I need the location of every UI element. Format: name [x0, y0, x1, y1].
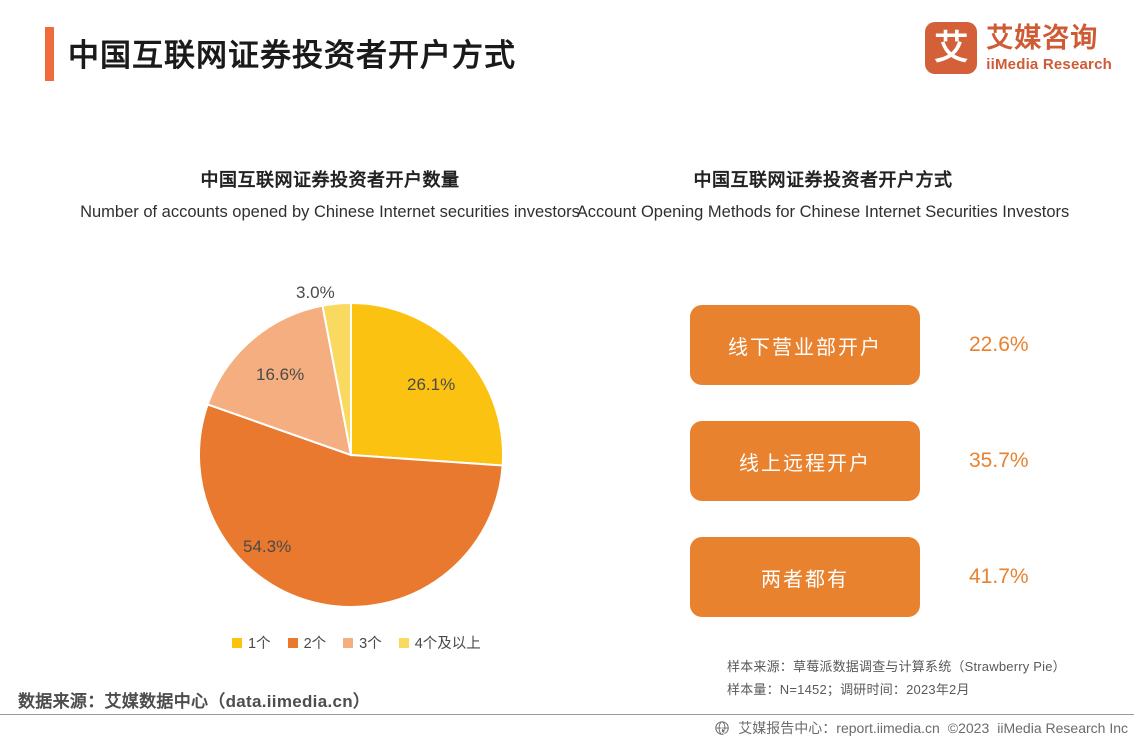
legend-item-label: 1个 [248, 632, 271, 653]
brand-logo: 艾 艾媒咨询 iiMedia Research [925, 22, 1112, 74]
legend-item[interactable]: 1个 [232, 632, 271, 653]
right-panel-title-en: Account Opening Methods for Chinese Inte… [543, 199, 1103, 226]
copyright-label: ©2023 [948, 720, 989, 736]
legend-swatch-icon [399, 638, 409, 648]
legend-swatch-icon [343, 638, 353, 648]
legend-item[interactable]: 4个及以上 [399, 632, 481, 653]
logo-text: 艾媒咨询 iiMedia Research [986, 25, 1112, 72]
legend-swatch-icon [232, 638, 242, 648]
logo-name-cn: 艾媒咨询 [986, 25, 1112, 52]
legend-item[interactable]: 2个 [288, 632, 327, 653]
method-bar-row: 线上远程开户 35.7% [690, 421, 1065, 501]
sample-source-line: 样本来源：草莓派数据调查与计算系统（Strawberry Pie） [727, 656, 1066, 679]
footer-divider [0, 714, 1134, 715]
page-title: 中国互联网证券投资者开户方式 [68, 30, 516, 75]
method-bar-list: 线下营业部开户 22.6% 线上远程开户 35.7% 两者都有 41.7% [690, 305, 1065, 653]
footer-right: 艾媒报告中心：report.iimedia.cn ©2023 iiMedia R… [715, 718, 1128, 738]
data-source-line: 数据来源：艾媒数据中心（data.iimedia.cn） [18, 687, 370, 712]
pie-chart: 26.1% 54.3% 16.6% 3.0% [196, 300, 506, 610]
method-bar-row: 两者都有 41.7% [690, 537, 1065, 617]
pie-chart-svg [196, 300, 506, 610]
method-bar-card[interactable]: 线上远程开户 [690, 421, 920, 501]
legend-item-label: 4个及以上 [415, 632, 481, 653]
page-header: 中国互联网证券投资者开户方式 艾 艾媒咨询 iiMedia Research [0, 0, 1134, 108]
method-bar-card[interactable]: 线下营业部开户 [690, 305, 920, 385]
left-panel-title-en: Number of accounts opened by Chinese Int… [50, 199, 610, 226]
legend-swatch-icon [288, 638, 298, 648]
sample-notes: 样本来源：草莓派数据调查与计算系统（Strawberry Pie） 样本量：N=… [727, 656, 1066, 702]
report-center-label[interactable]: 艾媒报告中心：report.iimedia.cn [738, 718, 940, 738]
left-panel-title-cn: 中国互联网证券投资者开户数量 [50, 168, 610, 192]
pie-chart-legend: 1个 2个 3个 4个及以上 [232, 632, 481, 653]
logo-mark-icon: 艾 [925, 22, 977, 74]
method-bar-value: 41.7% [969, 565, 1029, 589]
legend-item-label: 2个 [304, 632, 327, 653]
right-panel-heading: 中国互联网证券投资者开户方式 Account Opening Methods f… [543, 168, 1103, 226]
sample-size-line: 样本量：N=1452；调研时间：2023年2月 [727, 679, 1066, 702]
right-panel-title-cn: 中国互联网证券投资者开户方式 [543, 168, 1103, 192]
pie-slice-label: 26.1% [407, 375, 455, 395]
method-bar-value: 35.7% [969, 449, 1029, 473]
title-accent-bar [45, 27, 54, 81]
legend-item-label: 3个 [359, 632, 382, 653]
method-bar-value: 22.6% [969, 333, 1029, 357]
pie-slice-label: 54.3% [243, 537, 291, 557]
globe-icon [715, 721, 730, 736]
pie-slice-label: 3.0% [296, 283, 335, 303]
method-bar-card[interactable]: 两者都有 [690, 537, 920, 617]
company-label: iiMedia Research Inc [997, 720, 1128, 736]
left-panel-heading: 中国互联网证券投资者开户数量 Number of accounts opened… [50, 168, 610, 226]
logo-name-en: iiMedia Research [986, 57, 1112, 72]
method-bar-row: 线下营业部开户 22.6% [690, 305, 1065, 385]
legend-item[interactable]: 3个 [343, 632, 382, 653]
pie-slice-label: 16.6% [256, 365, 304, 385]
